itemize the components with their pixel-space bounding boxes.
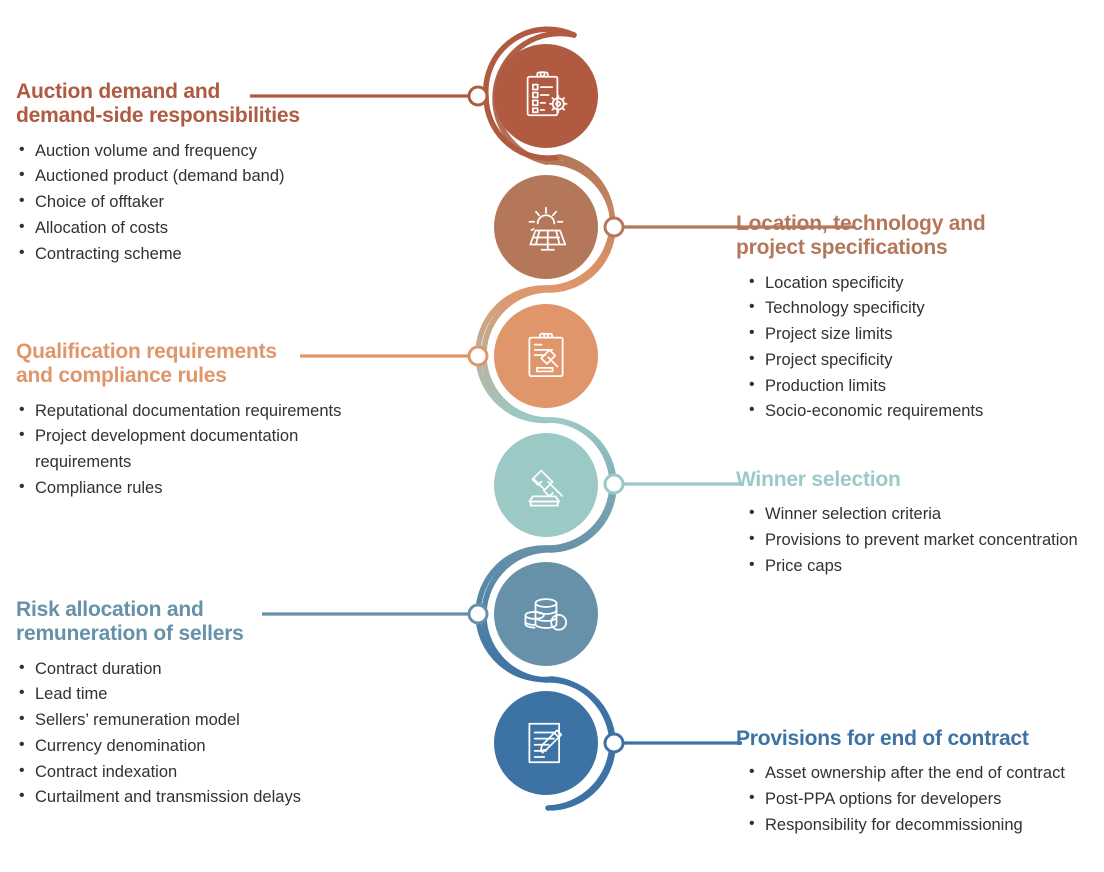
section-location-technology: Location, technology and project specifi… [736,212,1096,425]
connector-node-3 [469,347,487,365]
node-circle-location-technology[interactable] [494,175,598,279]
list-item: Sellers’ remuneration model [16,708,376,734]
heading-line-1a: Auction demand and [16,80,220,103]
coin-stacks-icon [518,586,574,642]
heading-line-2a: Location, technology and [736,212,986,235]
node-circle-auction-demand[interactable] [494,44,598,148]
heading-line-6a: Provisions for end of contract [736,727,1029,750]
section-heading-5: Risk allocation and remuneration of sell… [16,598,376,647]
list-item: Location specificity [746,271,1096,297]
node-circle-winner-selection[interactable] [494,433,598,537]
connector-node-4 [605,475,623,493]
section-list-5: Contract duration Lead time Sellers’ rem… [16,657,376,811]
heading-line-3b: and compliance rules [16,364,227,387]
clipboard-gavel-icon [518,328,574,384]
heading-line-4a: Winner selection [736,468,901,491]
node-circle-qualification-requirements[interactable] [494,304,598,408]
list-item: Provisions to prevent market concentrati… [746,528,1096,554]
list-item: Project development documentation requir… [16,424,376,475]
section-winner-selection: Winner selection Winner selection criter… [736,468,1096,580]
connector-node-2 [605,218,623,236]
heading-line-5b: remuneration of sellers [16,622,244,645]
list-item: Post-PPA options for developers [746,787,1100,813]
section-list-1: Auction volume and frequency Auctioned p… [16,139,356,268]
heading-line-1b: demand-side responsibilities [16,104,300,127]
list-item: Curtailment and transmission delays [16,785,376,811]
heading-line-3a: Qualification requirements [16,340,277,363]
list-item: Socio-economic requirements [746,399,1096,425]
list-item: Responsibility for decommissioning [746,813,1100,839]
section-list-6: Asset ownership after the end of contrac… [736,761,1100,838]
section-heading-3: Qualification requirements and complianc… [16,340,376,389]
list-item: Reputational documentation requirements [16,399,376,425]
list-item: Contracting scheme [16,242,356,268]
list-item: Choice of offtaker [16,190,356,216]
section-list-3: Reputational documentation requirements … [16,399,376,502]
gavel-icon [518,457,574,513]
list-item: Allocation of costs [16,216,356,242]
list-item: Project specificity [746,348,1096,374]
list-item: Lead time [16,682,376,708]
connector-node-6 [605,734,623,752]
section-list-2: Location specificity Technology specific… [736,271,1096,425]
heading-line-5a: Risk allocation and [16,598,204,621]
list-item: Auction volume and frequency [16,139,356,165]
list-item: Production limits [746,374,1096,400]
section-qualification-requirements: Qualification requirements and complianc… [16,340,376,502]
section-heading-2: Location, technology and project specifi… [736,212,1096,261]
section-heading-1: Auction demand and demand-side responsib… [16,80,356,129]
section-auction-demand: Auction demand and demand-side responsib… [16,80,356,267]
list-item: Project size limits [746,322,1096,348]
section-heading-6: Provisions for end of contract [736,727,1100,751]
clipboard-checklist-gear-icon [518,68,574,124]
heading-line-2b: project specifications [736,236,948,259]
connector-node-1 [469,87,487,105]
list-item: Price caps [746,554,1096,580]
list-item: Winner selection criteria [746,502,1096,528]
section-end-of-contract: Provisions for end of contract Asset own… [736,727,1100,839]
list-item: Contract duration [16,657,376,683]
list-item: Currency denomination [16,734,376,760]
list-item: Asset ownership after the end of contrac… [746,761,1100,787]
document-pen-icon [518,715,574,771]
list-item: Technology specificity [746,296,1096,322]
section-risk-allocation: Risk allocation and remuneration of sell… [16,598,376,811]
node-circle-risk-allocation[interactable] [494,562,598,666]
list-item: Compliance rules [16,476,376,502]
connector-node-5 [469,605,487,623]
list-item: Auctioned product (demand band) [16,164,356,190]
solar-panel-sun-icon [518,199,574,255]
section-list-4: Winner selection criteria Provisions to … [736,502,1096,579]
node-circle-end-of-contract[interactable] [494,691,598,795]
list-item: Contract indexation [16,760,376,786]
section-heading-4: Winner selection [736,468,1096,492]
infographic-canvas: Auction demand and demand-side responsib… [0,0,1104,872]
